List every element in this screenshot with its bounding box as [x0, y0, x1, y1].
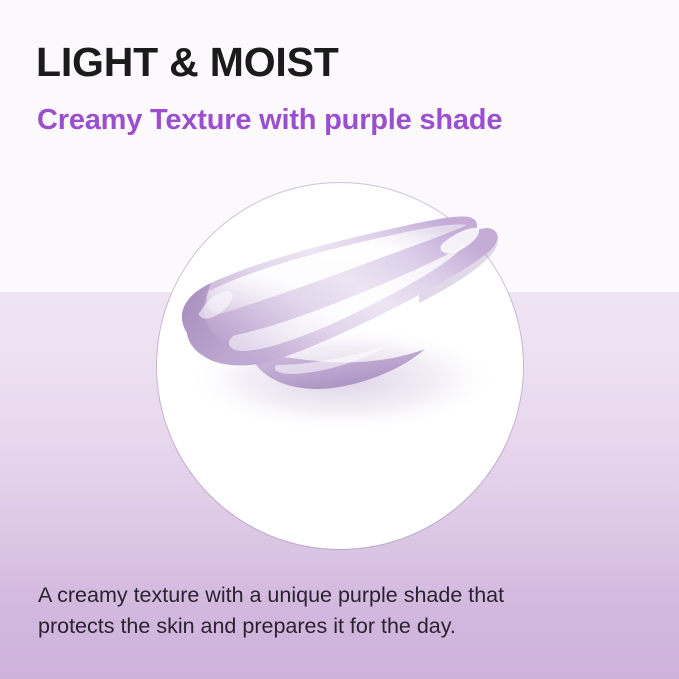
body-line-2: protects the skin and prepares it for th… — [38, 611, 598, 642]
body-description: A creamy texture with a unique purple sh… — [38, 580, 598, 641]
product-feature-card: LIGHT & MOIST Creamy Texture with purple… — [0, 0, 679, 679]
page-subtitle: Creamy Texture with purple shade — [37, 104, 502, 137]
cream-swatch-smear — [157, 183, 523, 549]
product-texture-circle — [157, 183, 523, 549]
page-title: LIGHT & MOIST — [36, 41, 339, 84]
body-line-1: A creamy texture with a unique purple sh… — [38, 580, 598, 611]
